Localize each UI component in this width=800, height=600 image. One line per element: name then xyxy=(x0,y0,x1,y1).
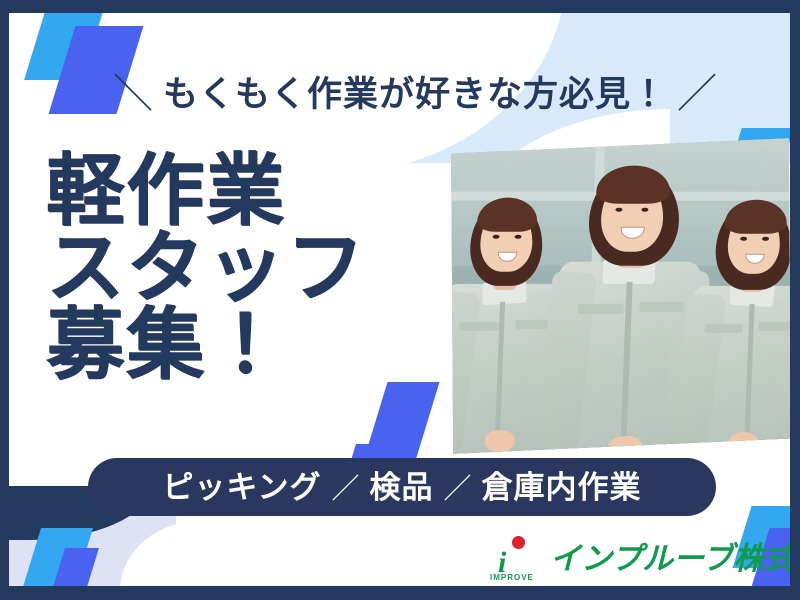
recruitment-ad-poster: ＼ もくもく作業が好きな方必見！ ／ 軽作業 スタッフ 募集！ ピッキング ／ … xyxy=(0,0,800,600)
job-type-separator-2: ／ xyxy=(434,467,482,507)
subtitle-banner: ＼ もくもく作業が好きな方必見！ ／ xyxy=(105,62,725,126)
improve-i-mark-icon: i IMPROVE xyxy=(490,535,542,581)
frame-left-strip xyxy=(0,0,9,600)
company-name: インプルーブ株式会社 xyxy=(550,543,800,574)
job-types-banner: ピッキング ／ 検品 ／ 倉庫内作業 xyxy=(88,458,716,516)
headline-line-3: 募集！ xyxy=(46,306,366,383)
frame-top-strip xyxy=(0,0,800,13)
headline-line-1: 軽作業 xyxy=(46,152,366,229)
slash-left-icon: ＼ xyxy=(113,74,153,114)
page-title: 軽作業 スタッフ 募集！ xyxy=(46,152,366,384)
staff-photo xyxy=(451,138,791,454)
logo-red-dot-icon xyxy=(512,536,525,549)
staff-photo-inner xyxy=(451,138,791,454)
headline-line-2: スタッフ xyxy=(46,229,366,306)
job-type-separator-1: ／ xyxy=(322,467,370,507)
logo-improve-text: IMPROVE xyxy=(490,574,534,582)
frame-right-strip xyxy=(790,0,800,600)
company-logo: i IMPROVE インプルーブ株式会社 xyxy=(490,534,800,582)
job-type-inspection: 検品 xyxy=(370,472,434,503)
job-type-picking: ピッキング xyxy=(162,472,321,503)
frame-bottom-strip xyxy=(0,586,800,600)
slash-right-icon: ／ xyxy=(677,74,717,114)
job-type-warehouse: 倉庫内作業 xyxy=(482,472,642,503)
subtitle-text: もくもく作業が好きな方必見！ xyxy=(163,77,667,112)
